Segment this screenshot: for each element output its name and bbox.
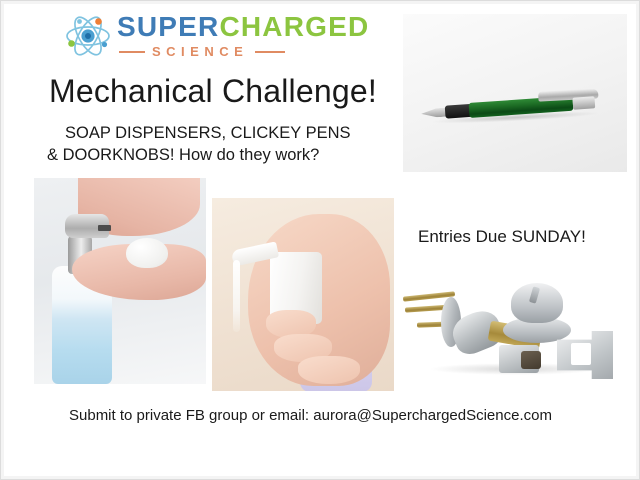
- atom-icon: [63, 13, 113, 59]
- subtitle-line-2: & DOORKNOBS! How do they work?: [47, 144, 351, 166]
- soap-foam: [126, 238, 168, 268]
- supercharged-science-logo: SUPERCHARGED SCIENCE: [63, 11, 393, 63]
- logo-rule-left: [119, 51, 145, 53]
- finger-3: [298, 356, 360, 384]
- pump-soap-bottle-photo: [212, 198, 394, 391]
- latch-bolt: [521, 351, 541, 369]
- doorknob-hardware-photo: [403, 277, 625, 385]
- soap-stream: [233, 260, 240, 332]
- logo-word-charged: CHARGED: [219, 11, 369, 42]
- logo-subtitle-row: SCIENCE: [117, 44, 393, 59]
- subtitle-line-1: SOAP DISPENSERS, CLICKEY PENS: [65, 124, 351, 142]
- subtitle-block: SOAP DISPENSERS, CLICKEY PENS & DOORKNOB…: [65, 122, 351, 166]
- foaming-soap-dispenser-photo: [34, 178, 206, 384]
- pen-plunger-button: [572, 96, 595, 110]
- strike-plate-opening: [571, 343, 591, 365]
- clickey-pen-photo: [403, 14, 627, 172]
- pump-nozzle: [98, 225, 111, 231]
- presentation-slide: SUPERCHARGED SCIENCE Mechanical Challeng…: [0, 0, 640, 480]
- logo-subtitle-text: SCIENCE: [152, 44, 248, 59]
- logo-word-super: SUPER: [117, 11, 219, 42]
- page-title: Mechanical Challenge!: [49, 73, 377, 110]
- entries-due-text: Entries Due SUNDAY!: [418, 227, 586, 247]
- submission-footer-text: Submit to private FB group or email: aur…: [69, 407, 552, 424]
- logo-rule-right: [255, 51, 285, 53]
- logo-wordmark-text: SUPERCHARGED: [117, 11, 393, 43]
- logo-wordmark: SUPERCHARGED SCIENCE: [117, 11, 393, 59]
